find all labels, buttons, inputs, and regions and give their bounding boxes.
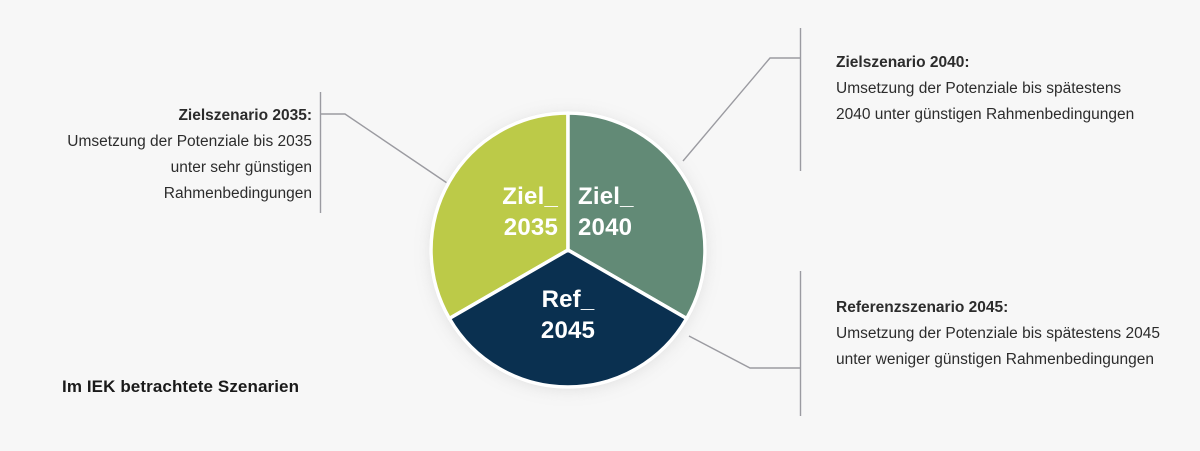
annotation-ziel2035-body: Umsetzung der Potenziale bis 2035 unter … <box>30 129 312 207</box>
annotation-ziel2035-title: Zielszenario 2035: <box>30 103 312 129</box>
annotation-ziel2040-body: Umsetzung der Potenziale bis spätestens … <box>836 76 1136 128</box>
pie-chart <box>428 110 708 390</box>
figure-caption: Im IEK betrachtete Szenarien <box>62 377 299 397</box>
annotation-ref2045-title: Referenzszenario 2045: <box>836 295 1176 321</box>
figure-canvas: Ziel_ 2035 Ziel_ 2040 Ref_ 2045 Zielszen… <box>0 0 1200 451</box>
annotation-ref2045: Referenzszenario 2045: Umsetzung der Pot… <box>836 295 1176 373</box>
annotation-ziel2040-title: Zielszenario 2040: <box>836 50 1136 76</box>
annotation-ref2045-body: Umsetzung der Potenziale bis spätestens … <box>836 321 1176 373</box>
annotation-ziel2035: Zielszenario 2035: Umsetzung der Potenzi… <box>30 103 312 207</box>
annotation-ziel2040: Zielszenario 2040: Umsetzung der Potenzi… <box>836 50 1136 128</box>
